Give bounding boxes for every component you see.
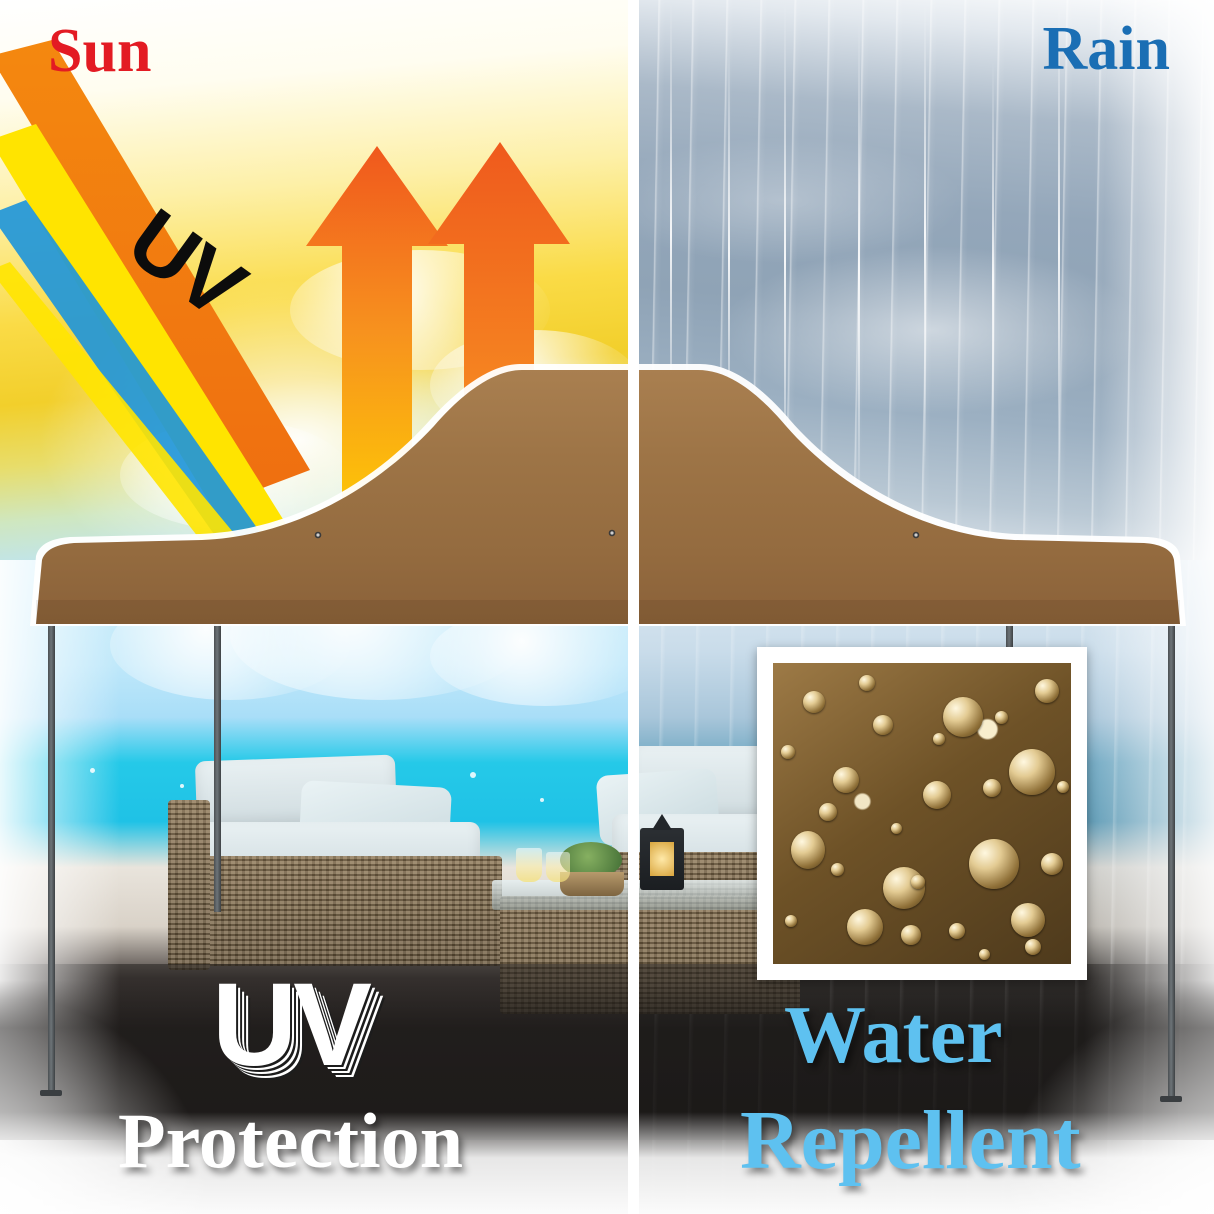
water-headline: Water [784,988,1003,1082]
tent-foot-front-left [40,1090,62,1096]
tent-foot-front-right [1160,1096,1182,1102]
water-droplet [943,697,983,737]
water-droplet [831,863,844,876]
water-droplet [983,779,1001,797]
rain-streak [728,40,730,470]
reflected-arrow-group [306,142,570,560]
water-droplet [1057,781,1069,793]
tent-leg-front-right [1168,612,1175,1100]
sofa-armrest [168,800,210,970]
cloud-shape [430,606,632,706]
water-droplet-inset-frame [757,647,1087,980]
arrow-up-right [428,142,570,560]
water-droplet [859,675,875,691]
tent-leg-rear-left [214,612,221,912]
rain-streak [924,0,926,470]
arrow-up-left [306,146,448,560]
water-droplet [785,915,797,927]
tent-leg-front-left [48,610,55,1094]
water-droplet [923,781,951,809]
sun-label: Sun [48,16,151,87]
protection-headline: Protection [118,1096,463,1186]
drink-glass [546,852,570,882]
water-sparkle [540,798,544,802]
product-feature-image: UV Sun Rain [0,0,1214,1214]
repellent-headline: Repellent [740,1092,1081,1189]
water-droplet [995,711,1008,724]
panel-divider [628,0,639,1214]
rain-streak [858,20,860,520]
water-droplet [781,745,795,759]
water-droplet [1025,939,1041,955]
water-droplet [933,733,945,745]
water-droplet [949,923,965,939]
water-droplet [1035,679,1059,703]
water-droplet [791,831,825,869]
water-droplet [979,949,990,960]
water-droplet [1009,749,1055,795]
water-droplet-photo [773,663,1071,964]
uv-headline: UV [212,966,368,1084]
rain-streak [992,60,994,500]
rain-streak [670,0,672,470]
sofa-frame [172,856,502,966]
water-sparkle [470,772,476,778]
water-droplet [847,909,883,945]
water-droplet [819,803,837,821]
rain-label: Rain [1043,14,1170,85]
water-droplet [873,715,893,735]
water-droplet [1041,853,1063,875]
lantern-glow [650,842,674,876]
water-droplet [901,925,921,945]
drink-glass [516,848,542,882]
water-droplet [803,691,825,713]
water-droplet [1011,903,1045,937]
rain-streak [784,0,786,520]
water-droplet [969,839,1019,889]
water-droplet [833,767,859,793]
plant-pot [560,872,624,896]
water-droplet [891,823,902,834]
water-droplet [911,875,925,889]
water-sparkle [180,784,184,788]
